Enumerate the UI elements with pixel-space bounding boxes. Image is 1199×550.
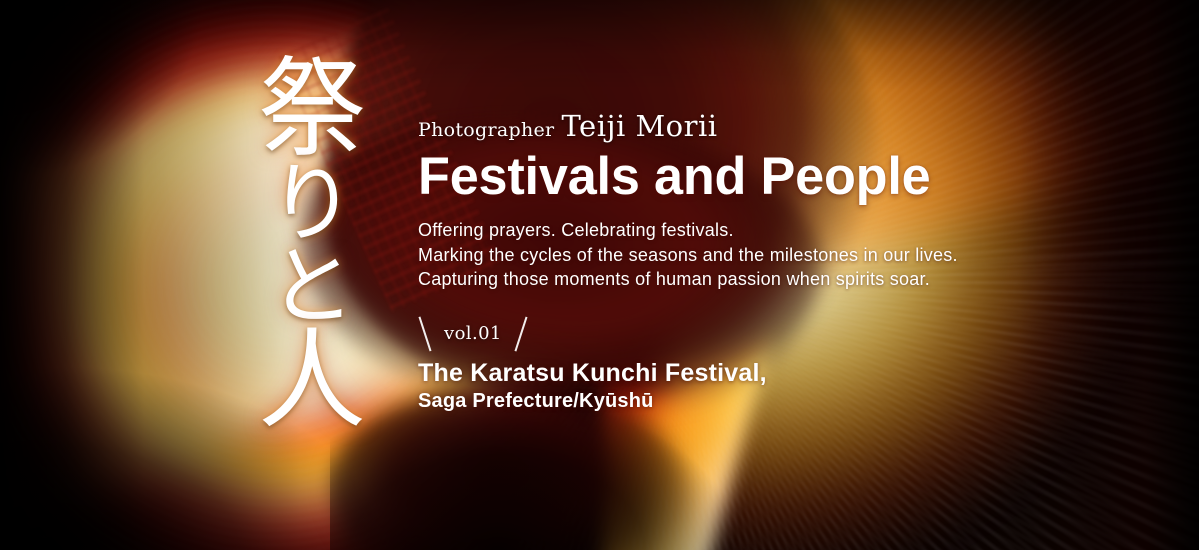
feature-title: The Karatsu Kunchi Festival, [418,359,1118,389]
volume-badge: vol.01 [418,318,528,350]
photographer-name: Teiji Morii [561,109,717,143]
hero-text-block: PhotographerTeiji Morii Festivals and Pe… [418,112,1118,414]
feature-region: Saga Prefecture/Kyūshū [418,388,1118,414]
kanji-char-hito: 人 [258,330,366,435]
badge-left-slash-icon [418,316,431,351]
photographer-role-label: Photographer [418,119,554,141]
page-title: Festivals and People [418,149,1108,204]
kana-char-ri: り [269,163,355,246]
hero-description-line-2: Marking the cycles of the seasons and th… [418,243,1118,268]
vertical-japanese-title: 祭 り と 人 [252,58,372,528]
kanji-char-matsuri: 祭 [258,58,366,163]
volume-number: vol.01 [444,323,502,344]
badge-right-slash-icon [515,316,528,351]
festival-hero-banner: 祭 り と 人 PhotographerTeiji Morii Festival… [0,0,1199,550]
kana-char-to: と [269,246,355,329]
hero-description-line-1: Offering prayers. Celebrating festivals. [418,218,1118,243]
photo-vignette-top-left [0,0,260,230]
hero-description: Offering prayers. Celebrating festivals.… [418,218,1118,292]
photographer-credit: PhotographerTeiji Morii [418,112,1118,141]
hero-description-line-3: Capturing those moments of human passion… [418,267,1118,292]
